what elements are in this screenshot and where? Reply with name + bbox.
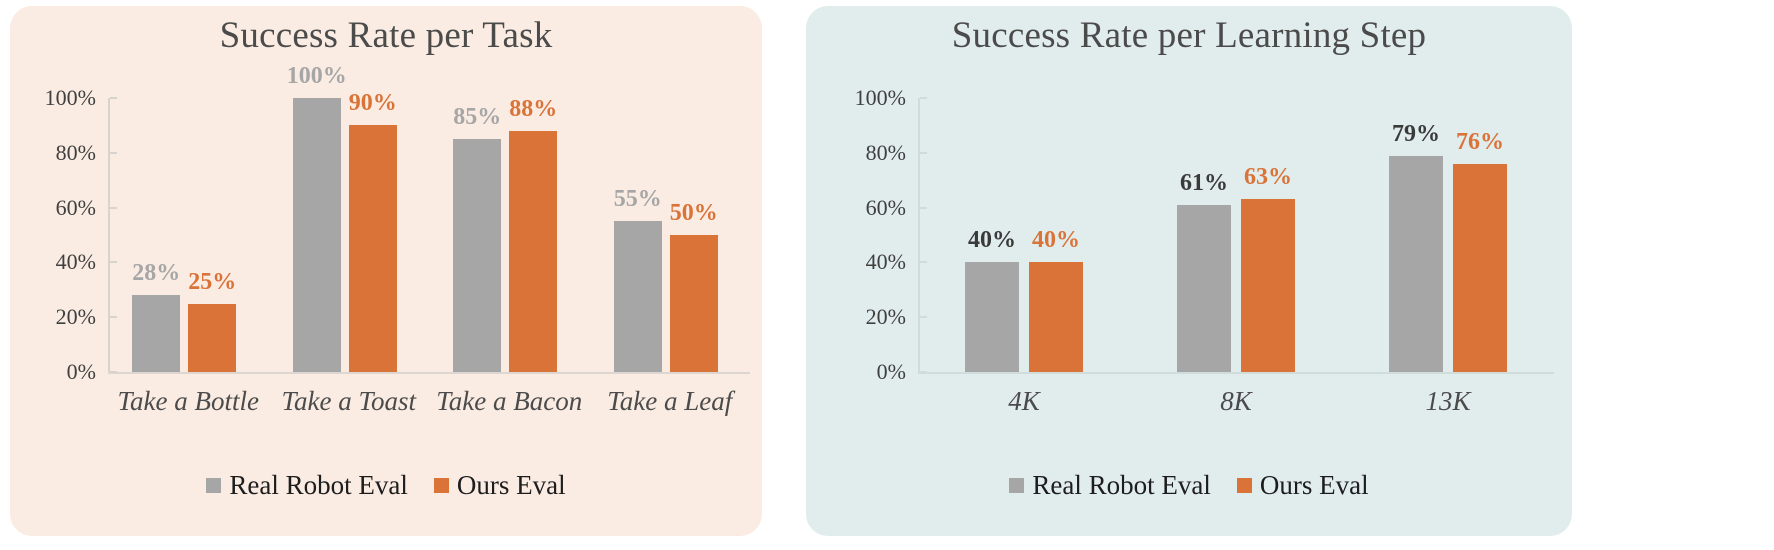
y-axis-tick-label: 0% bbox=[22, 361, 96, 383]
y-axis-tick bbox=[920, 371, 927, 373]
y-axis-tick bbox=[110, 152, 117, 154]
bar-value-label: 63% bbox=[1227, 165, 1309, 189]
y-axis-tick bbox=[920, 316, 927, 318]
bar-value-label: 88% bbox=[495, 97, 571, 121]
y-axis-tick-label: 20% bbox=[832, 306, 906, 328]
bar-real-robot-eval-13k bbox=[1389, 156, 1443, 372]
y-axis-tick-label: 80% bbox=[22, 142, 96, 164]
bar-real-robot-eval-4k bbox=[965, 262, 1019, 372]
bar-ours-eval-take-a-bacon bbox=[509, 131, 557, 372]
y-axis-tick-label: 0% bbox=[832, 361, 906, 383]
y-axis-tick bbox=[920, 152, 927, 154]
y-axis-tick bbox=[110, 316, 117, 318]
y-axis-tick bbox=[920, 97, 927, 99]
bar-real-robot-eval-take-a-leaf bbox=[614, 221, 662, 372]
chart-panel-success-rate-per-task: Success Rate per Task 0%20%40%60%80%100%… bbox=[10, 6, 762, 536]
y-axis-tick-label: 60% bbox=[22, 197, 96, 219]
plot-area-right: 0%20%40%60%80%100%40%40%4K61%63%8K79%76%… bbox=[806, 6, 1572, 536]
legend-item-ours-eval[interactable]: Ours Eval bbox=[434, 470, 566, 500]
legend-swatch-icon bbox=[434, 478, 449, 493]
x-axis-category-label: 4K bbox=[902, 386, 1146, 416]
y-axis-tick bbox=[110, 371, 117, 373]
legend-swatch-icon bbox=[1009, 478, 1024, 493]
bar-real-robot-eval-take-a-bacon bbox=[453, 139, 501, 372]
x-axis-category-label: Take a Leaf bbox=[574, 386, 767, 416]
bar-ours-eval-8k bbox=[1241, 199, 1295, 372]
bar-ours-eval-13k bbox=[1453, 164, 1507, 372]
y-axis-tick bbox=[920, 261, 927, 263]
bar-ours-eval-take-a-toast bbox=[349, 125, 397, 372]
bar-value-label: 40% bbox=[1015, 228, 1097, 252]
bar-ours-eval-take-a-leaf bbox=[670, 235, 718, 372]
y-axis-tick bbox=[110, 261, 117, 263]
plot-area-left: 0%20%40%60%80%100%28%25%Take a Bottle100… bbox=[10, 6, 762, 536]
legend-right: Real Robot EvalOurs Eval bbox=[806, 470, 1572, 500]
legend-swatch-icon bbox=[1237, 478, 1252, 493]
legend-item-real-robot-eval[interactable]: Real Robot Eval bbox=[1009, 470, 1210, 500]
bar-real-robot-eval-take-a-bottle bbox=[132, 295, 180, 372]
bar-value-label: 50% bbox=[656, 201, 732, 225]
legend-left: Real Robot EvalOurs Eval bbox=[10, 470, 762, 500]
bar-ours-eval-take-a-bottle bbox=[188, 304, 236, 373]
bar-value-label: 100% bbox=[279, 64, 355, 88]
y-axis-tick-label: 60% bbox=[832, 197, 906, 219]
figure-root: Success Rate per Task 0%20%40%60%80%100%… bbox=[0, 0, 1774, 550]
y-axis-line bbox=[918, 98, 920, 372]
bar-ours-eval-4k bbox=[1029, 262, 1083, 372]
y-axis-tick-label: 100% bbox=[22, 87, 96, 109]
y-axis-tick-label: 100% bbox=[832, 87, 906, 109]
legend-item-label: Ours Eval bbox=[1260, 470, 1369, 500]
x-axis-category-label: 13K bbox=[1326, 386, 1570, 416]
y-axis-tick-label: 20% bbox=[22, 306, 96, 328]
y-axis-tick bbox=[110, 97, 117, 99]
legend-item-label: Real Robot Eval bbox=[1032, 470, 1210, 500]
x-axis-category-label: 8K bbox=[1114, 386, 1358, 416]
legend-swatch-icon bbox=[206, 478, 221, 493]
bar-value-label: 90% bbox=[335, 91, 411, 115]
bar-value-label: 76% bbox=[1439, 130, 1521, 154]
legend-item-label: Real Robot Eval bbox=[229, 470, 407, 500]
y-axis-tick-label: 80% bbox=[832, 142, 906, 164]
bar-real-robot-eval-8k bbox=[1177, 205, 1231, 372]
x-axis-baseline bbox=[108, 372, 750, 374]
y-axis-tick-label: 40% bbox=[832, 251, 906, 273]
bar-value-label: 25% bbox=[174, 270, 250, 294]
bar-real-robot-eval-take-a-toast bbox=[293, 98, 341, 372]
y-axis-line bbox=[108, 98, 110, 372]
y-axis-tick bbox=[920, 207, 927, 209]
chart-panel-success-rate-per-learning-step: Success Rate per Learning Step 0%20%40%6… bbox=[806, 6, 1572, 536]
y-axis-tick bbox=[110, 207, 117, 209]
legend-item-real-robot-eval[interactable]: Real Robot Eval bbox=[206, 470, 407, 500]
legend-item-label: Ours Eval bbox=[457, 470, 566, 500]
x-axis-baseline bbox=[918, 372, 1554, 374]
y-axis-tick-label: 40% bbox=[22, 251, 96, 273]
legend-item-ours-eval[interactable]: Ours Eval bbox=[1237, 470, 1369, 500]
